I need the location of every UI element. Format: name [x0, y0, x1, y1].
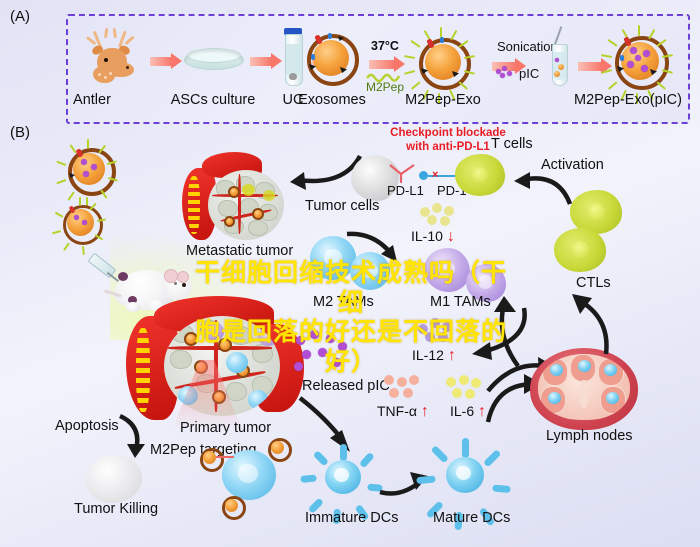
label-metastatic-tumor: Metastatic tumor: [186, 243, 293, 259]
label-released-pic: Released pIC: [302, 378, 390, 394]
blockade-x-icon: ×: [432, 169, 438, 181]
targeting-link: [216, 456, 234, 458]
tnfa-molecule-cluster: [384, 375, 424, 399]
deer-icon: [88, 28, 148, 86]
panel-b-tag: (B): [10, 124, 30, 141]
exosome-icon: [307, 34, 359, 86]
centrifuge-tube-icon: [283, 28, 303, 86]
label-lymph-nodes: Lymph nodes: [546, 428, 633, 444]
panel-a-label-antler: Antler: [42, 92, 142, 108]
process-arrow: [250, 57, 272, 66]
apoptosis-arrow: [114, 414, 160, 460]
condition-pic: pIC: [519, 66, 539, 81]
label-tumor-cells: Tumor cells: [305, 198, 379, 214]
m2-tam-cell-icon: [350, 252, 390, 290]
process-arrow: [150, 57, 172, 66]
process-arrow: [578, 62, 602, 71]
panel-a-label-m2pepexo: M2Pep-Exo: [403, 92, 483, 108]
immature-dc-icon: [312, 448, 374, 506]
label-activation: Activation: [541, 157, 604, 173]
anti-pdl1-antibody-icon: [388, 163, 416, 185]
cytokine-il-6-name: IL-6: [450, 403, 474, 419]
exosome-icon: [200, 448, 222, 470]
primary-tumor-illustration: [126, 298, 308, 420]
condition-peptide: M2Pep: [366, 80, 404, 94]
label-mature-dcs: Mature DCs: [433, 510, 510, 526]
cytokine-il-10-direction: ↓: [447, 228, 455, 245]
cytokine-tnf-alpha: TNF-α ↑: [377, 403, 429, 421]
loaded-exosome-icon: [607, 28, 669, 90]
metastatic-tumor-illustration: [182, 156, 294, 244]
label-immature-dcs: Immature DCs: [305, 510, 398, 526]
mature-dc-icon: [432, 444, 498, 506]
cytokine-il-6: IL-6 ↑: [450, 403, 486, 421]
figure-canvas: (A) Antler ASCs culture UC: [0, 0, 700, 547]
panel-a-label-asc: ASCs culture: [163, 92, 263, 108]
cytokine-il-10: IL-10 ↓: [411, 228, 455, 246]
flow-arrow: [458, 306, 530, 364]
checkpoint-line-1: Checkpoint blockade: [390, 127, 506, 139]
panel-a-label-exosomes: Exosomes: [297, 92, 367, 108]
pic-particles-icon: [496, 66, 516, 80]
m1-tam-cell-icon: [424, 248, 470, 292]
panel-a-label-final: M2Pep-Exo(pIC): [563, 92, 693, 108]
lymph-node-illustration: [530, 348, 638, 432]
checkpoint-line-2: with anti-PD-L1: [406, 141, 490, 153]
loaded-exosome-icon: [60, 140, 116, 196]
flow-arrow: [562, 294, 620, 358]
panel-a-tag: (A): [10, 8, 30, 25]
exosome-icon: [222, 496, 244, 518]
process-arrow: [369, 60, 395, 69]
label-ctls: CTLs: [576, 275, 611, 291]
loaded-exosome-icon: [56, 198, 104, 246]
pd1-receptor-icon: [419, 171, 428, 180]
cytokine-il-12-name: IL-12: [412, 347, 444, 363]
cytokine-il-10-name: IL-10: [411, 228, 443, 244]
condition-temperature: 37°C: [371, 39, 399, 53]
petri-dish-icon: [184, 48, 242, 72]
cytokine-il-12: IL-12 ↑: [412, 347, 456, 365]
cytokine-tnf-alpha-name: TNF-α: [377, 403, 417, 419]
cytokine-il-12-direction: ↑: [448, 347, 456, 364]
label-m2-tams: M2 TAMs: [313, 294, 374, 310]
activation-arrow: [508, 168, 578, 210]
ctl-cell-icon: [554, 228, 606, 272]
released-pic-cluster: [294, 330, 350, 376]
il12-molecule-cluster: [418, 318, 458, 342]
maturation-arrow: [378, 470, 436, 504]
label-tumor-killing: Tumor Killing: [74, 501, 158, 517]
label-t-cells: T cells: [491, 136, 533, 152]
label-apoptosis: Apoptosis: [55, 418, 119, 434]
apoptotic-body-icon: [86, 455, 142, 503]
il10-molecule-cluster: [420, 203, 462, 227]
m2-tam-cell-icon: [310, 236, 356, 280]
exosome-icon: [268, 438, 290, 460]
label-pdl1: PD-L1: [387, 183, 424, 198]
cytokine-tnf-alpha-direction: ↑: [421, 403, 429, 420]
t-cell-icon: [455, 154, 505, 196]
label-primary-tumor: Primary tumor: [180, 420, 271, 436]
il6-molecule-cluster: [446, 375, 486, 399]
sonicator-icon: [546, 26, 572, 86]
peptide-exosome-icon: [411, 30, 471, 90]
